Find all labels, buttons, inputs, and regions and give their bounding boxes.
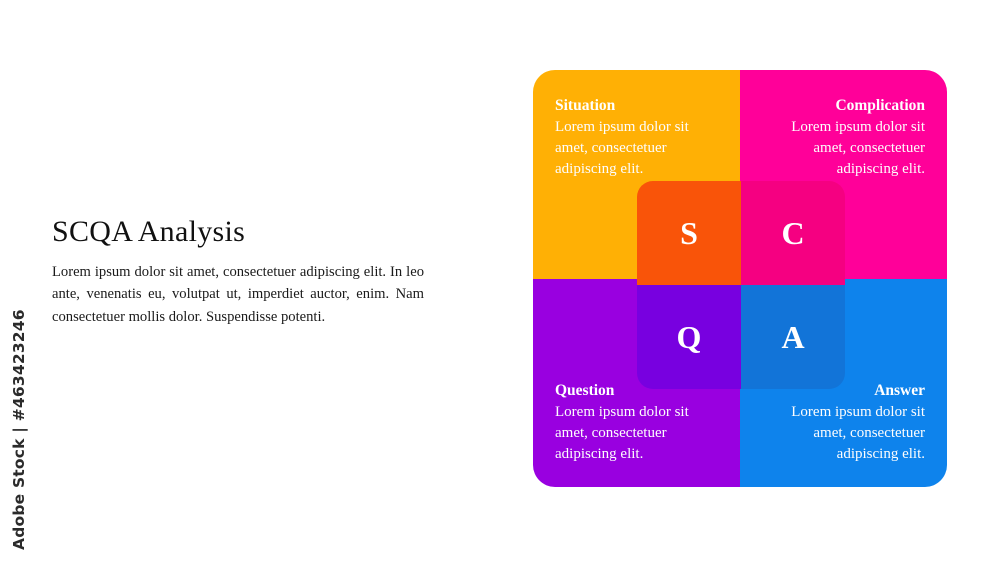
- center-cell-complication[interactable]: C: [741, 181, 845, 285]
- quadrant-question-heading: Question: [555, 381, 614, 401]
- page-title: SCQA Analysis: [52, 215, 424, 250]
- quadrant-answer-heading: Answer: [874, 381, 925, 401]
- stock-watermark: Adobe Stock | #463423246: [10, 290, 28, 550]
- quadrant-complication-text: Lorem ipsum dolor sit amet, consectetuer…: [762, 117, 925, 180]
- center-cell-question[interactable]: Q: [637, 285, 741, 389]
- scqa-quadrant-diagram: Situation Lorem ipsum dolor sit amet, co…: [533, 70, 947, 487]
- quadrant-situation-text: Lorem ipsum dolor sit amet, consectetuer…: [555, 117, 718, 180]
- quadrant-complication-heading: Complication: [835, 96, 925, 116]
- center-cell-situation[interactable]: S: [637, 181, 741, 285]
- scqa-center-letters: S C Q A: [637, 181, 845, 389]
- center-letter-a: A: [781, 321, 804, 353]
- quadrant-question-text: Lorem ipsum dolor sit amet, consectetuer…: [555, 402, 718, 465]
- quadrant-situation-heading: Situation: [555, 96, 615, 116]
- center-letter-s: S: [680, 217, 698, 249]
- slide-canvas: Adobe Stock | #463423246 SCQA Analysis L…: [0, 0, 1000, 563]
- center-letter-c: C: [781, 217, 804, 249]
- center-cell-answer[interactable]: A: [741, 285, 845, 389]
- center-letter-q: Q: [677, 321, 702, 353]
- page-description: Lorem ipsum dolor sit amet, consectetuer…: [52, 261, 424, 329]
- quadrant-answer-text: Lorem ipsum dolor sit amet, consectetuer…: [762, 402, 925, 465]
- left-text-panel: SCQA Analysis Lorem ipsum dolor sit amet…: [52, 215, 424, 328]
